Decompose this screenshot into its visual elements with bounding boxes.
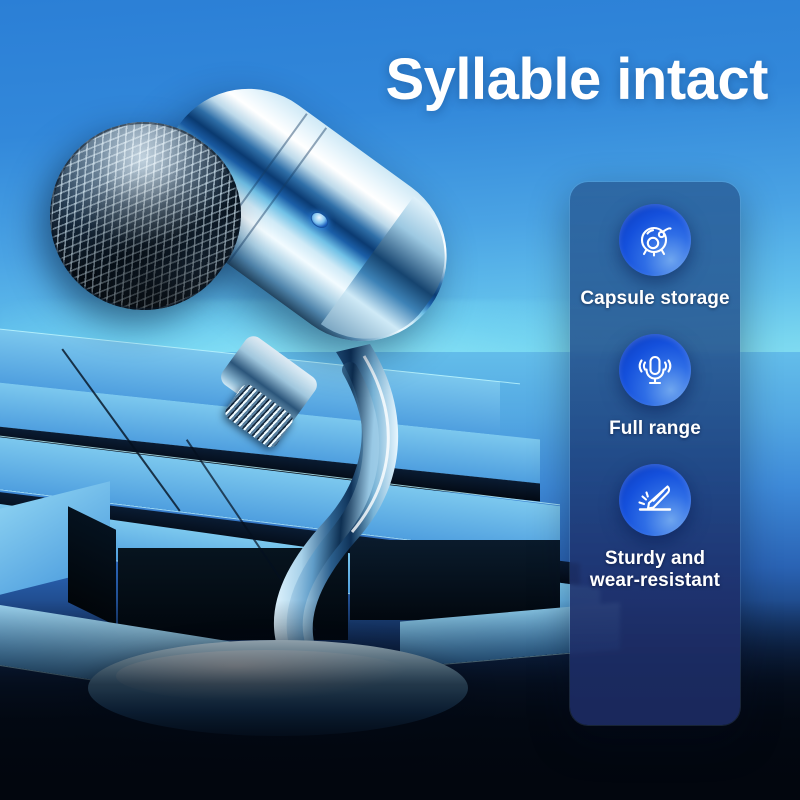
scratch-blade-icon (619, 464, 691, 536)
feature-item-sturdy-wear-resistant[interactable]: Sturdy and wear-resistant (570, 464, 740, 592)
page-title: Syllable intact (385, 46, 768, 113)
microphone-waves-icon (619, 334, 691, 406)
feature-label: Capsule storage (580, 288, 729, 310)
product-marketing-image: Syllable intact Capsule storage (0, 0, 800, 800)
capsule-storage-icon (619, 204, 691, 276)
feature-item-capsule-storage[interactable]: Capsule storage (570, 204, 740, 310)
feature-label: Full range (609, 418, 701, 440)
feature-label: Sturdy and wear-resistant (590, 548, 720, 592)
feature-panel: Capsule storage Full range (570, 182, 740, 725)
feature-item-full-range[interactable]: Full range (570, 334, 740, 440)
